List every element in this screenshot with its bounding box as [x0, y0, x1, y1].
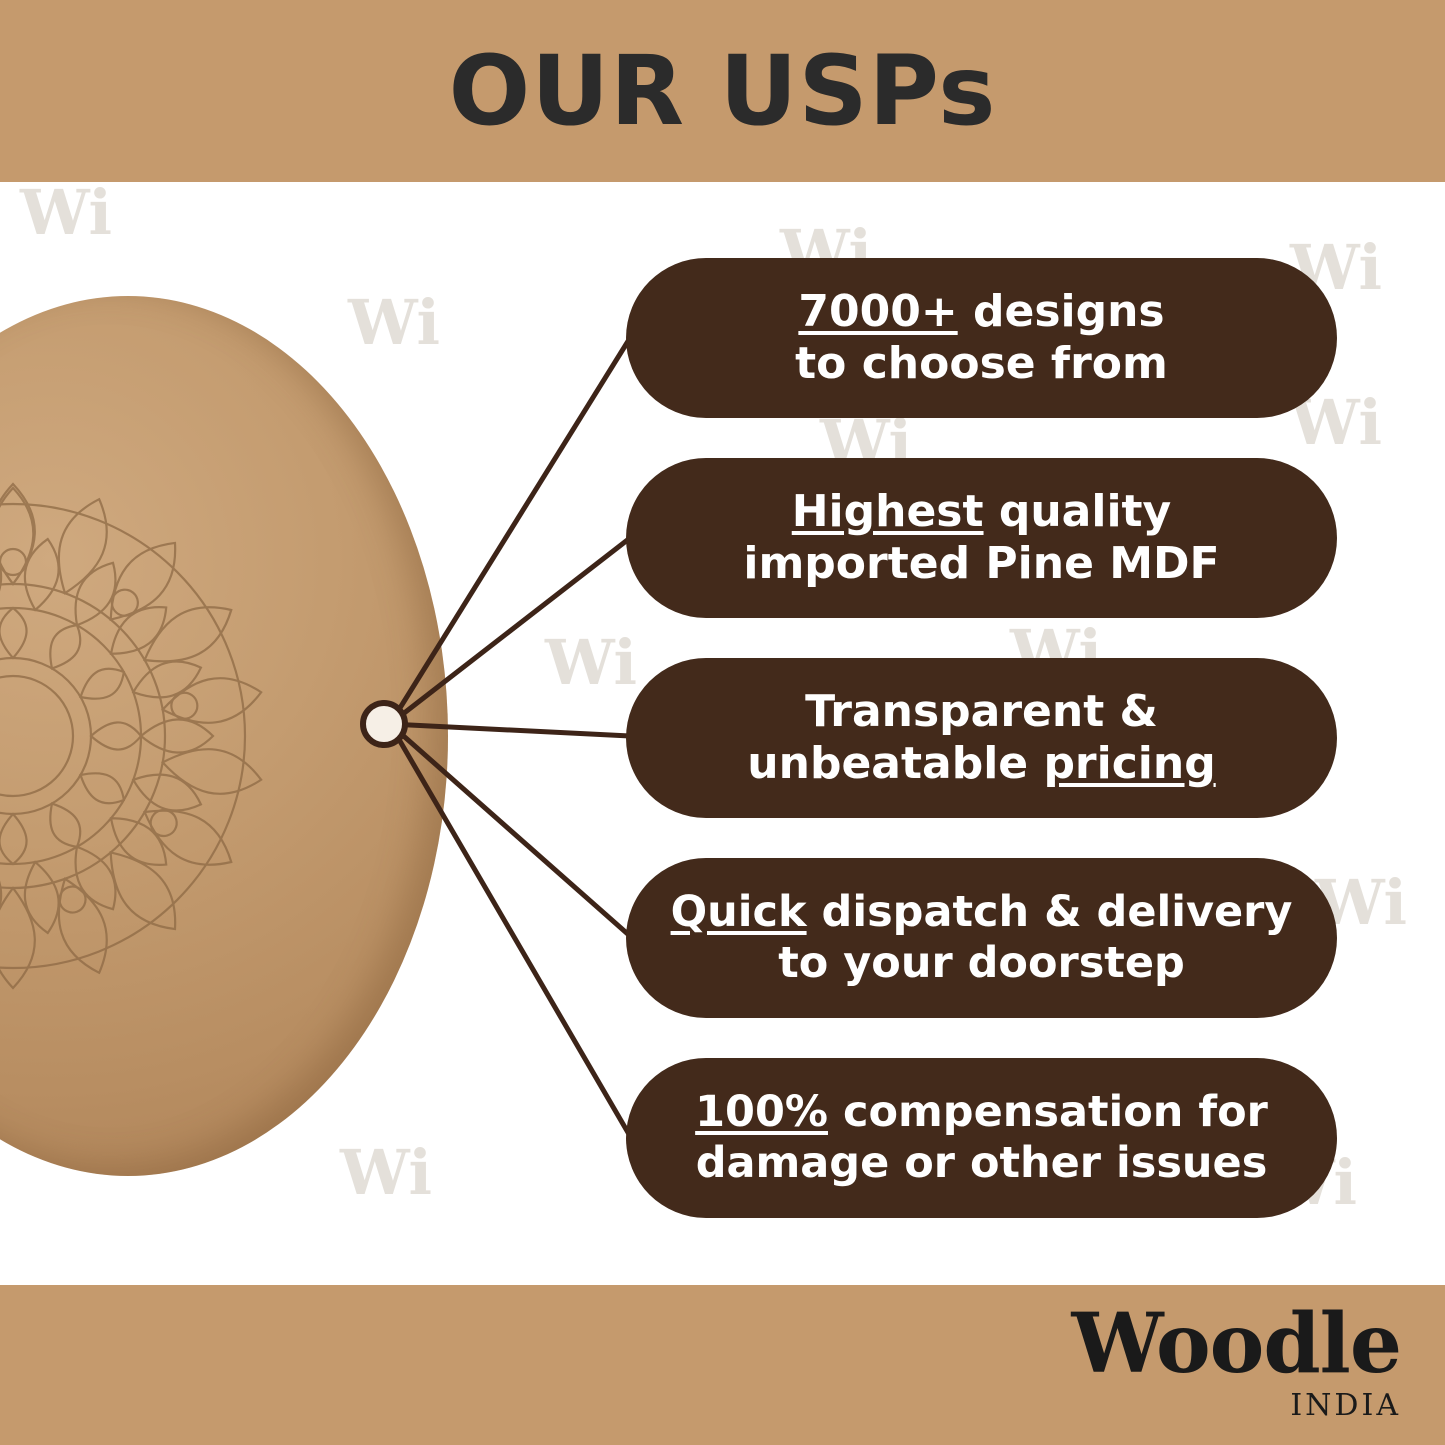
usp-item-3[interactable]: Transparent & unbeatable pricing — [626, 658, 1337, 818]
usp-3-highlight: pricing — [1043, 738, 1215, 789]
brand-logo: Woodle INDIA — [1072, 1306, 1401, 1423]
brand-subtitle: INDIA — [1072, 1388, 1401, 1423]
usp-4-line1-rest: dispatch & delivery — [807, 887, 1293, 937]
usp-4-line2: to your doorstep — [778, 938, 1185, 988]
usp-2-line1-rest: quality — [984, 486, 1172, 537]
usp-1-highlight: 7000+ — [798, 286, 957, 337]
usp-1-line2: to choose from — [795, 338, 1168, 389]
usp-5-line2: damage or other issues — [696, 1138, 1268, 1188]
brand-name: Woodle — [1072, 1306, 1401, 1384]
usp-item-1[interactable]: 7000+ designs to choose from — [626, 258, 1337, 418]
usp-2-line2: imported Pine MDF — [743, 538, 1219, 589]
usp-2-highlight: Highest — [792, 486, 984, 537]
usp-4-highlight: Quick — [671, 887, 807, 937]
usp-5-line1-rest: compensation for — [828, 1087, 1268, 1137]
usp-item-5[interactable]: 100% compensation for damage or other is… — [626, 1058, 1337, 1218]
usp-item-4[interactable]: Quick dispatch & delivery to your doorst… — [626, 858, 1337, 1018]
usp-3-line1: Transparent & — [805, 686, 1158, 737]
usp-item-2[interactable]: Highest quality imported Pine MDF — [626, 458, 1337, 618]
usp-5-highlight: 100% — [695, 1087, 828, 1137]
hub-node — [360, 700, 408, 748]
usp-1-line1-rest: designs — [958, 286, 1165, 337]
usp-3-line2-pre: unbeatable — [747, 738, 1043, 789]
